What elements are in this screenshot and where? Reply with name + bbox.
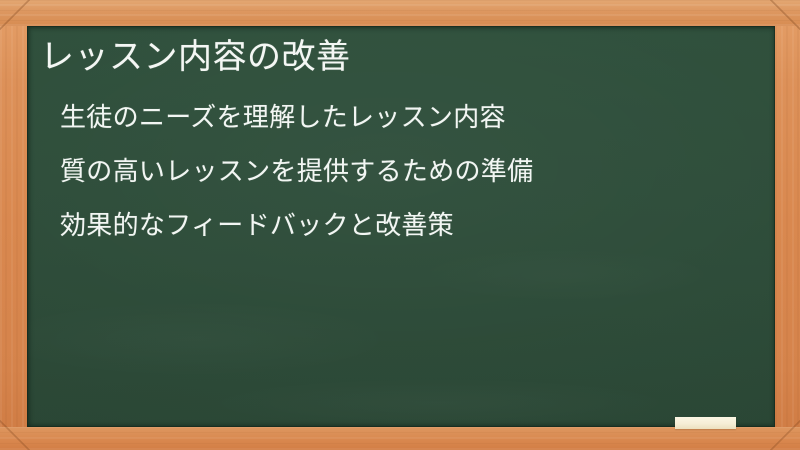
frame-top-rail xyxy=(0,0,800,26)
bullet-item-3: 効果的なフィードバックと改善策 xyxy=(40,199,753,253)
board-content: レッスン内容の改善 生徒のニーズを理解したレッスン内容 質の高いレッスンを提供す… xyxy=(27,26,775,427)
bullet-item-1: 生徒のニーズを理解したレッスン内容 xyxy=(40,91,753,145)
chalk-stick xyxy=(675,417,736,429)
bullet-list: 生徒のニーズを理解したレッスン内容 質の高いレッスンを提供するための準備 効果的… xyxy=(40,91,753,253)
slide-title: レッスン内容の改善 xyxy=(40,36,753,78)
chalkboard-surface: レッスン内容の改善 生徒のニーズを理解したレッスン内容 質の高いレッスンを提供す… xyxy=(27,26,775,427)
slide-canvas: レッスン内容の改善 生徒のニーズを理解したレッスン内容 質の高いレッスンを提供す… xyxy=(0,0,800,450)
frame-bottom-ledge xyxy=(0,427,800,450)
bullet-item-2: 質の高いレッスンを提供するための準備 xyxy=(40,145,753,199)
